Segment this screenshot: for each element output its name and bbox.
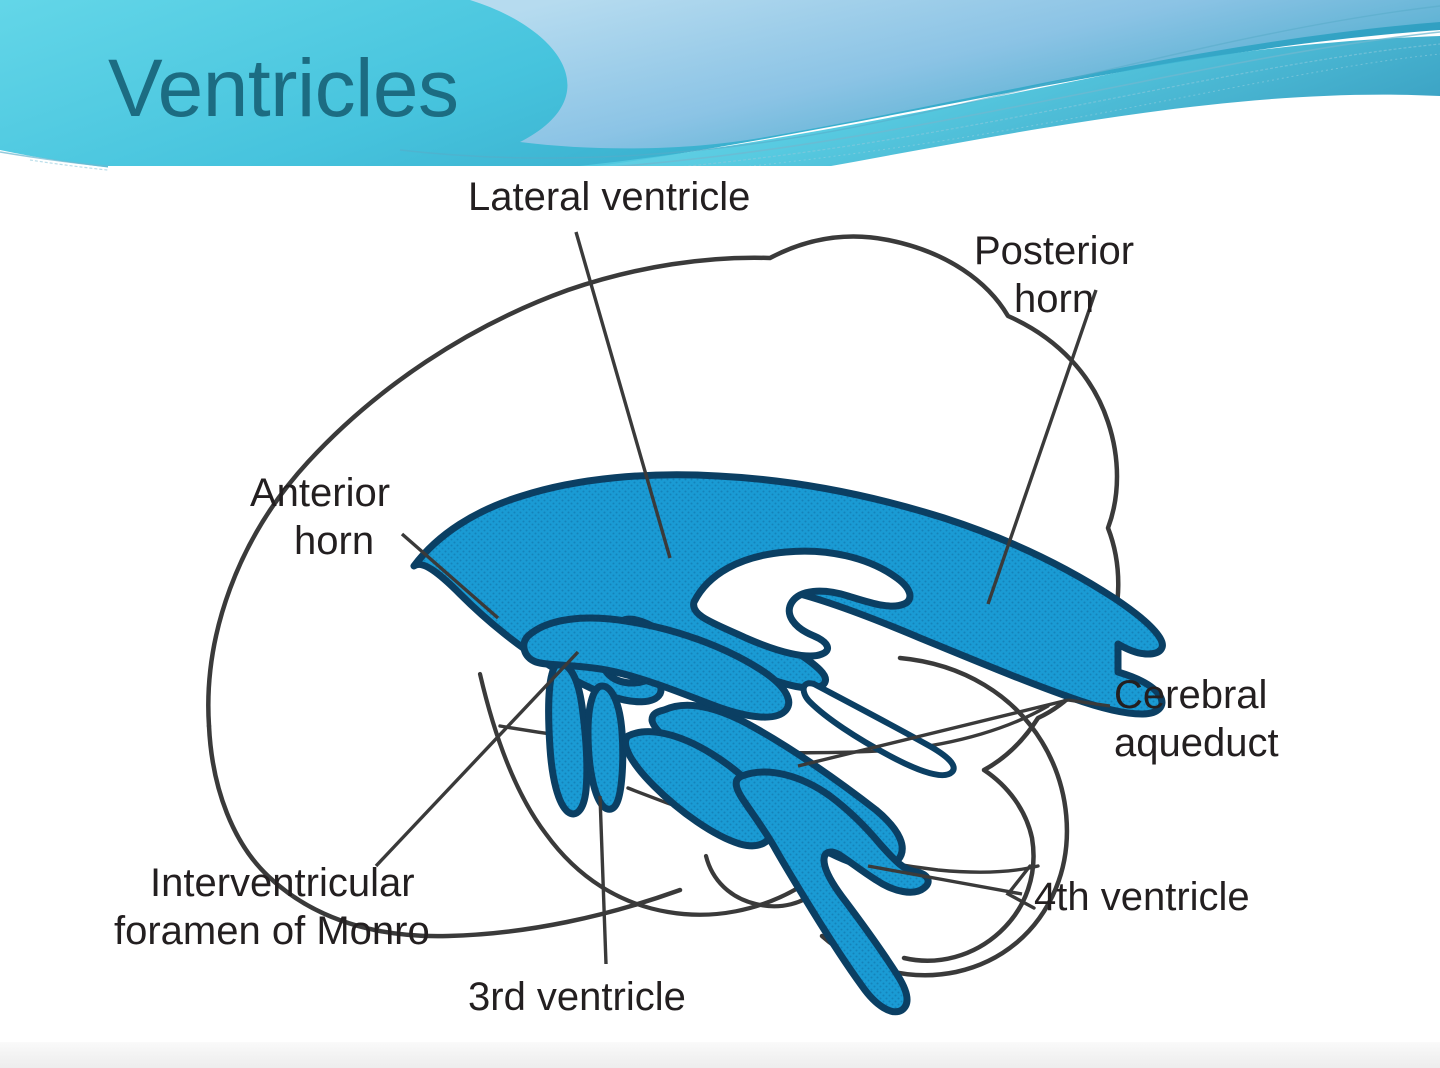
page-title: Ventricles bbox=[108, 48, 459, 130]
figure-image-container: Lateral ventricle Posterior horn Anterio… bbox=[108, 166, 1330, 1040]
label-cerebral-aqueduct-line1: Cerebral bbox=[1114, 673, 1267, 717]
header-hairline-4 bbox=[400, 6, 1440, 158]
label-cerebral-aqueduct-line2: aqueduct bbox=[1114, 721, 1279, 765]
label-anterior-horn-line1: Anterior bbox=[250, 471, 390, 515]
label-foramen-of-monro-line1: Interventricular bbox=[150, 861, 415, 905]
label-posterior-horn-line2: horn bbox=[1014, 277, 1094, 321]
header-band-blue bbox=[470, 0, 1440, 148]
label-anterior-horn-line2: horn bbox=[294, 519, 374, 563]
label-posterior-horn-line1: Posterior bbox=[974, 229, 1134, 273]
label-lateral-ventricle: Lateral ventricle bbox=[468, 175, 750, 219]
label-third-ventricle: 3rd ventricle bbox=[468, 975, 686, 1019]
third-ventricle-shape bbox=[549, 664, 587, 814]
label-foramen-of-monro-line2: foramen of Monro bbox=[114, 909, 430, 953]
label-fourth-ventricle: 4th ventricle bbox=[1034, 875, 1250, 919]
third-ventricle-shape-2 bbox=[588, 686, 623, 809]
slide-bottom-band bbox=[0, 1042, 1440, 1068]
slide: Ventricles bbox=[0, 0, 1440, 1068]
header-band-cyan-lower bbox=[430, 36, 1440, 186]
